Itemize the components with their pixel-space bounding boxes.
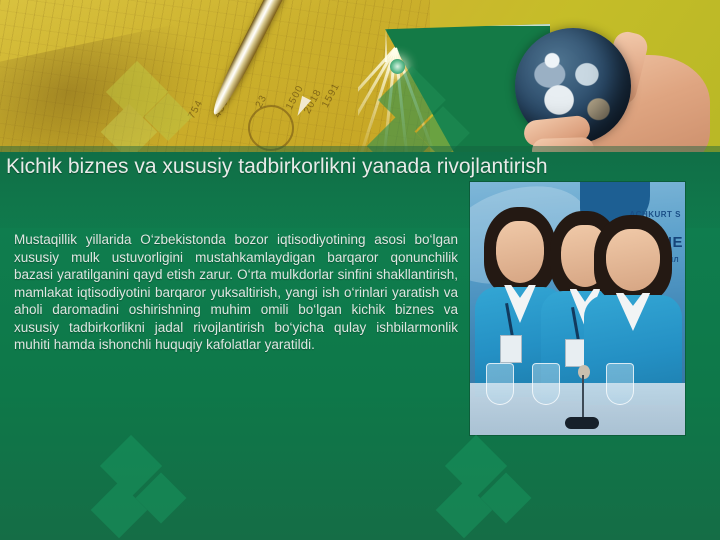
page-title: Kichik biznes va xususiy tadbirkorlikni … (6, 150, 606, 184)
sparkle-icon (385, 28, 387, 62)
microphone-icon (565, 417, 599, 429)
hand-holding-globe (500, 10, 710, 152)
presentation-slide: 23 1500 2018 1591 4509 754 (0, 0, 720, 540)
light-source-icon (390, 59, 405, 74)
banner-image: 23 1500 2018 1591 4509 754 (0, 0, 720, 152)
watermark-logo (95, 440, 187, 540)
conference-photo: ACHKURT S INTERNE ДХА-ФИЛ (470, 182, 685, 435)
watermark-logo (440, 440, 532, 540)
light-rays (358, 28, 488, 152)
body-paragraph: Mustaqillik yillarida O‘zbekistonda bozo… (14, 231, 458, 354)
